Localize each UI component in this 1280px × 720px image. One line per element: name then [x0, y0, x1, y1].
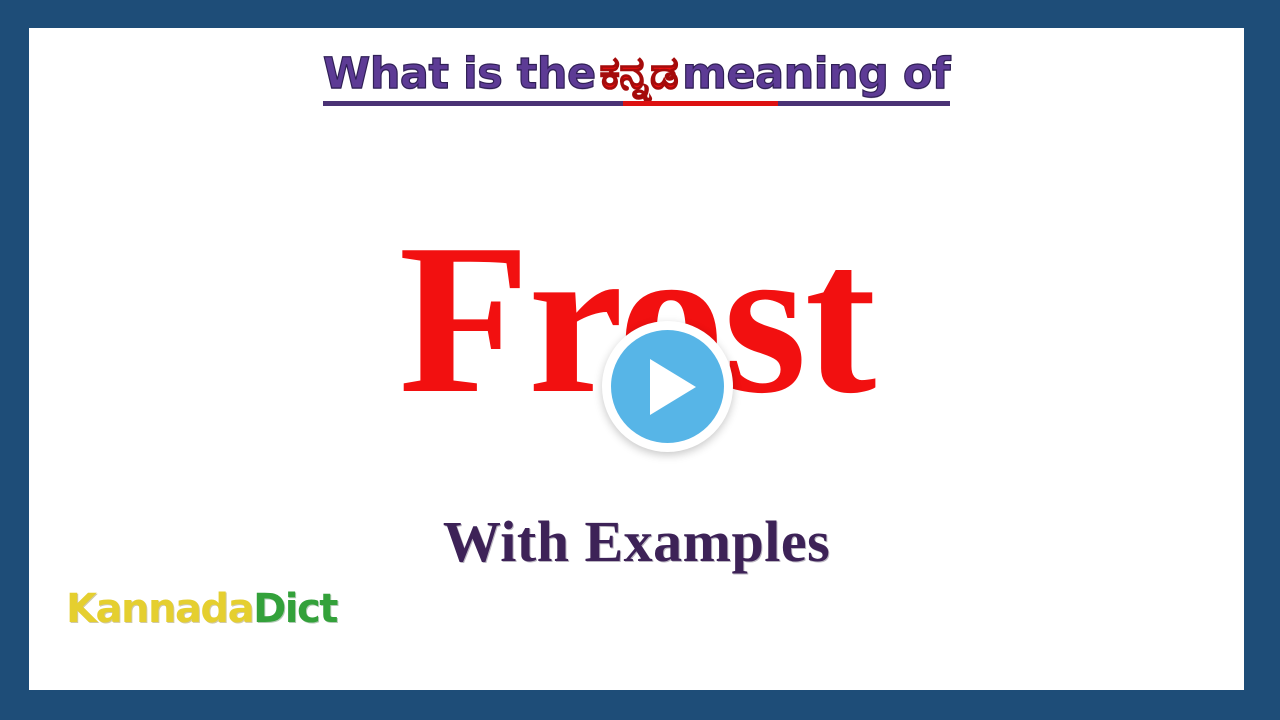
brand-logo[interactable]: KannadaDict — [66, 585, 337, 633]
subtitle: With Examples — [29, 510, 1244, 574]
play-triangle-icon — [650, 359, 696, 415]
slide-frame: What is theಕನ್ನಡmeaning of Frost With Ex… — [0, 0, 1280, 720]
heading-prefix: What is the — [323, 49, 596, 99]
underline-segment-right — [778, 101, 950, 106]
play-button-disc — [611, 330, 724, 443]
play-button[interactable] — [602, 321, 733, 452]
heading-underline — [323, 101, 950, 106]
heading-language-kannada: ಕನ್ನಡ — [596, 46, 683, 99]
heading-block: What is theಕನ್ನಡmeaning of — [29, 50, 1244, 102]
brand-logo-part-one: Kannada — [66, 586, 253, 632]
underline-segment-left — [323, 101, 623, 106]
heading-line: What is theಕನ್ನಡmeaning of — [323, 50, 950, 102]
heading-suffix: meaning of — [682, 49, 950, 99]
brand-logo-part-two: Dict — [253, 586, 337, 632]
underline-segment-kannada — [623, 101, 778, 106]
slide-canvas: What is theಕನ್ನಡmeaning of Frost With Ex… — [29, 28, 1244, 690]
